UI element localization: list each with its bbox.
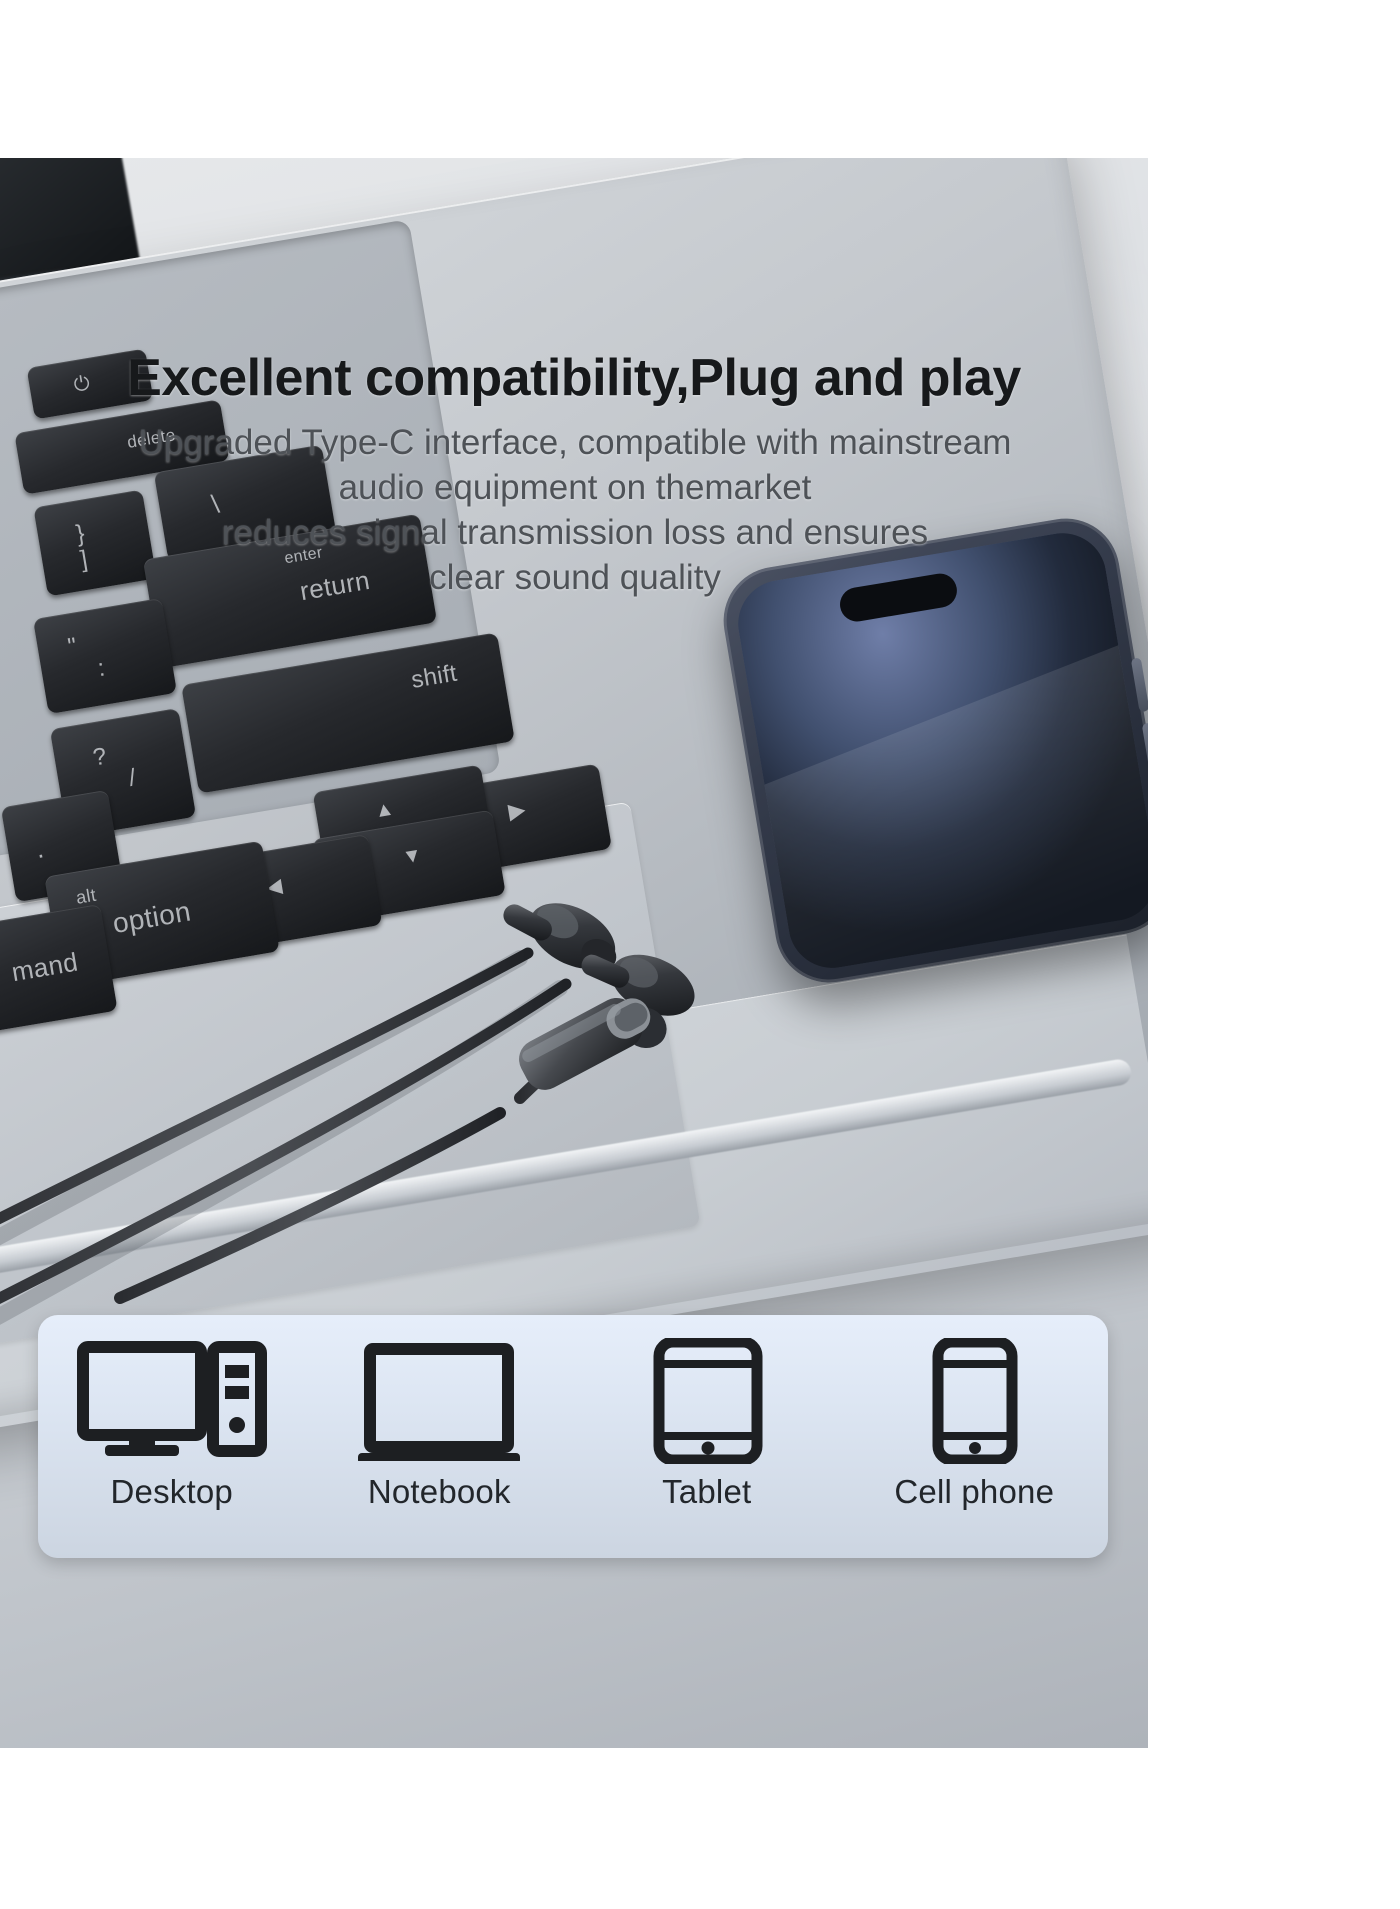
compat-label: Notebook	[368, 1473, 511, 1511]
key-label: "	[66, 633, 79, 662]
subtitle-line-2: audio equipment on themarket	[60, 465, 1090, 510]
laptop-icon	[344, 1341, 534, 1461]
compat-item-cellphone: Cell phone	[841, 1315, 1109, 1511]
arrow-down-icon: ▼	[401, 844, 425, 870]
subtitle-line-3: reduces signal transmission loss and ens…	[60, 510, 1090, 555]
key-label: .	[34, 833, 47, 865]
compat-item-tablet: Tablet	[573, 1315, 841, 1511]
tablet-icon	[637, 1341, 777, 1461]
compat-label: Desktop	[111, 1473, 233, 1511]
compat-label: Cell phone	[894, 1473, 1054, 1511]
key-label-alt: /	[127, 764, 139, 793]
key-label: mand	[9, 947, 80, 989]
subtitle-line-4: clear sound quality	[60, 555, 1090, 600]
smartphone-icon	[914, 1341, 1034, 1461]
key-label-option: option	[110, 895, 193, 940]
product-photo: ⏻ delete \ } ] enter return " : shift ▶ …	[0, 158, 1148, 1748]
subtitle-line-1: Upgraded Type-C interface, compatible wi…	[60, 420, 1090, 465]
compatibility-bar: Desktop Notebook Tablet	[38, 1315, 1108, 1558]
compat-label: Tablet	[662, 1473, 751, 1511]
compat-item-notebook: Notebook	[306, 1315, 574, 1511]
key-label: ?	[91, 743, 109, 773]
desktop-computer-icon	[77, 1341, 267, 1461]
arrow-up-icon: ▲	[373, 797, 397, 823]
key-label: shift	[409, 660, 459, 695]
arrow-right-icon: ▶	[506, 796, 527, 825]
compat-item-desktop: Desktop	[38, 1315, 306, 1511]
page-subtitle: Upgraded Type-C interface, compatible wi…	[60, 420, 1090, 600]
page-title: Excellent compatibility,Plug and play	[0, 348, 1148, 408]
key-label-alt: :	[96, 654, 108, 683]
